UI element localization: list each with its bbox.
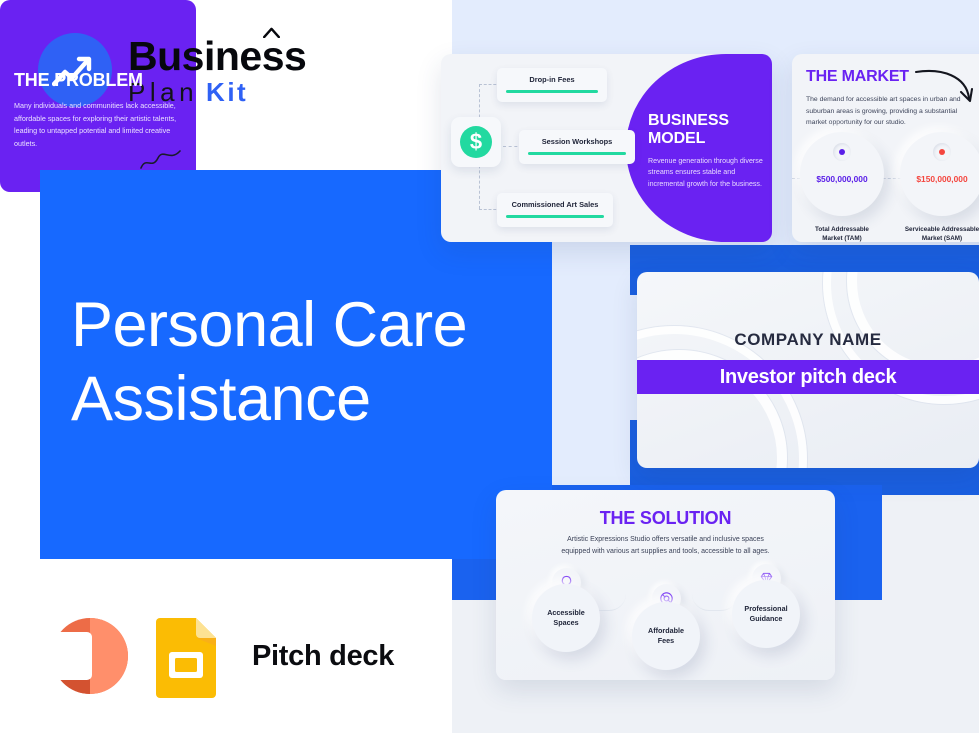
solution-node-label-line1: Professional bbox=[744, 604, 787, 613]
market-metrics: $500,000,000 Total Addressable Market (T… bbox=[798, 132, 979, 242]
solution-node-label: Affordable Fees bbox=[648, 626, 684, 647]
slide-title-cover[interactable]: COMPANY NAME Investor pitch deck bbox=[637, 272, 979, 468]
market-metric-dot-holder bbox=[933, 143, 951, 161]
market-body: The demand for accessible art spaces in … bbox=[806, 94, 966, 129]
accent-rule bbox=[506, 90, 598, 93]
business-model-item-label: Drop-in Fees bbox=[506, 75, 598, 84]
business-model-icon-tile: $ bbox=[451, 117, 501, 167]
business-model-item[interactable]: Commissioned Art Sales bbox=[497, 193, 613, 227]
logo-word-kit: Kit bbox=[206, 79, 248, 105]
business-model-body: Revenue generation through diverse strea… bbox=[648, 156, 768, 190]
solution-node-label-line2: Fees bbox=[658, 636, 674, 645]
cover-subtitle-band: Investor pitch deck bbox=[637, 360, 979, 394]
slide-business-model[interactable]: $ Drop-in Fees Session Workshops Commiss… bbox=[441, 54, 772, 242]
solution-body: Artistic Expressions Studio offers versa… bbox=[552, 534, 779, 558]
page-title: Personal Care Assistance bbox=[71, 288, 541, 437]
market-metric-dot-holder bbox=[833, 143, 851, 161]
solution-node-label-line1: Accessible bbox=[547, 608, 585, 617]
solution-node-label: Professional Guidance bbox=[744, 604, 787, 625]
slide-the-solution[interactable]: THE SOLUTION Artistic Expressions Studio… bbox=[496, 490, 835, 680]
market-metric-caption-line1: Total Addressable bbox=[798, 225, 886, 234]
problem-title: THE PROBLEM bbox=[14, 70, 143, 91]
solution-node-label: Accessible Spaces bbox=[547, 608, 585, 629]
market-metric[interactable]: $150,000,000 Serviceable Addressable Mar… bbox=[898, 132, 979, 242]
solution-node-label-line2: Guidance bbox=[750, 614, 783, 623]
circumflex-accent-icon bbox=[263, 27, 280, 38]
dollar-circle-icon: $ bbox=[460, 126, 492, 158]
logo-line-business-text: Business bbox=[128, 33, 306, 79]
market-title: THE MARKET bbox=[806, 68, 909, 86]
accent-rule bbox=[528, 152, 626, 155]
solution-node[interactable]: Accessible Spaces bbox=[532, 584, 600, 652]
status-dot-icon bbox=[839, 149, 845, 155]
microsoft-powerpoint-icon: P bbox=[36, 610, 132, 702]
poster-canvas: Business Plan Kit Personal Care Assistan… bbox=[0, 0, 979, 733]
page-title-line-1: Personal Care bbox=[71, 288, 541, 362]
pitch-deck-label: Pitch deck bbox=[252, 640, 394, 673]
market-metric-value: $150,000,000 bbox=[916, 174, 967, 184]
market-metric-caption-line2: Market (TAM) bbox=[798, 234, 886, 242]
accent-rule bbox=[506, 215, 604, 218]
slide-the-market[interactable]: THE MARKET The demand for accessible art… bbox=[792, 54, 979, 242]
solution-node-label-line1: Affordable bbox=[648, 626, 684, 635]
page-title-line-2: Assistance bbox=[71, 362, 541, 436]
market-metric-caption: Serviceable Addressable Market (SAM) bbox=[898, 225, 979, 242]
solution-node[interactable]: Professional Guidance bbox=[732, 580, 800, 648]
solution-node[interactable]: Affordable Fees bbox=[632, 602, 700, 670]
business-model-item-label: Session Workshops bbox=[528, 137, 626, 146]
market-metric-caption-line2: Market (SAM) bbox=[898, 234, 979, 242]
market-metric[interactable]: $500,000,000 Total Addressable Market (T… bbox=[798, 132, 886, 242]
business-model-item[interactable]: Drop-in Fees bbox=[497, 68, 607, 102]
market-metric-caption: Total Addressable Market (TAM) bbox=[798, 225, 886, 242]
cover-subtitle: Investor pitch deck bbox=[720, 366, 897, 389]
logo-line-business: Business bbox=[128, 36, 306, 77]
format-badges: P Pitch deck bbox=[36, 610, 394, 702]
cover-company-name: COMPANY NAME bbox=[637, 330, 979, 350]
market-metric-disc: $150,000,000 bbox=[900, 132, 979, 216]
business-model-title: BUSINESS MODEL bbox=[648, 112, 768, 148]
business-model-item-label: Commissioned Art Sales bbox=[506, 200, 604, 209]
solution-connector-right bbox=[692, 594, 738, 611]
solution-title: THE SOLUTION bbox=[496, 508, 835, 529]
market-metric-caption-line1: Serviceable Addressable bbox=[898, 225, 979, 234]
squiggle-line-icon bbox=[140, 148, 182, 172]
google-slides-icon bbox=[154, 614, 220, 698]
solution-node-label-line2: Spaces bbox=[553, 618, 578, 627]
business-model-item[interactable]: Session Workshops bbox=[519, 130, 635, 164]
market-metric-disc: $500,000,000 bbox=[800, 132, 884, 216]
problem-body: Many individuals and communities lack ac… bbox=[14, 100, 192, 151]
status-dot-icon bbox=[939, 149, 945, 155]
svg-text:P: P bbox=[57, 638, 80, 676]
market-metric-value: $500,000,000 bbox=[816, 174, 867, 184]
